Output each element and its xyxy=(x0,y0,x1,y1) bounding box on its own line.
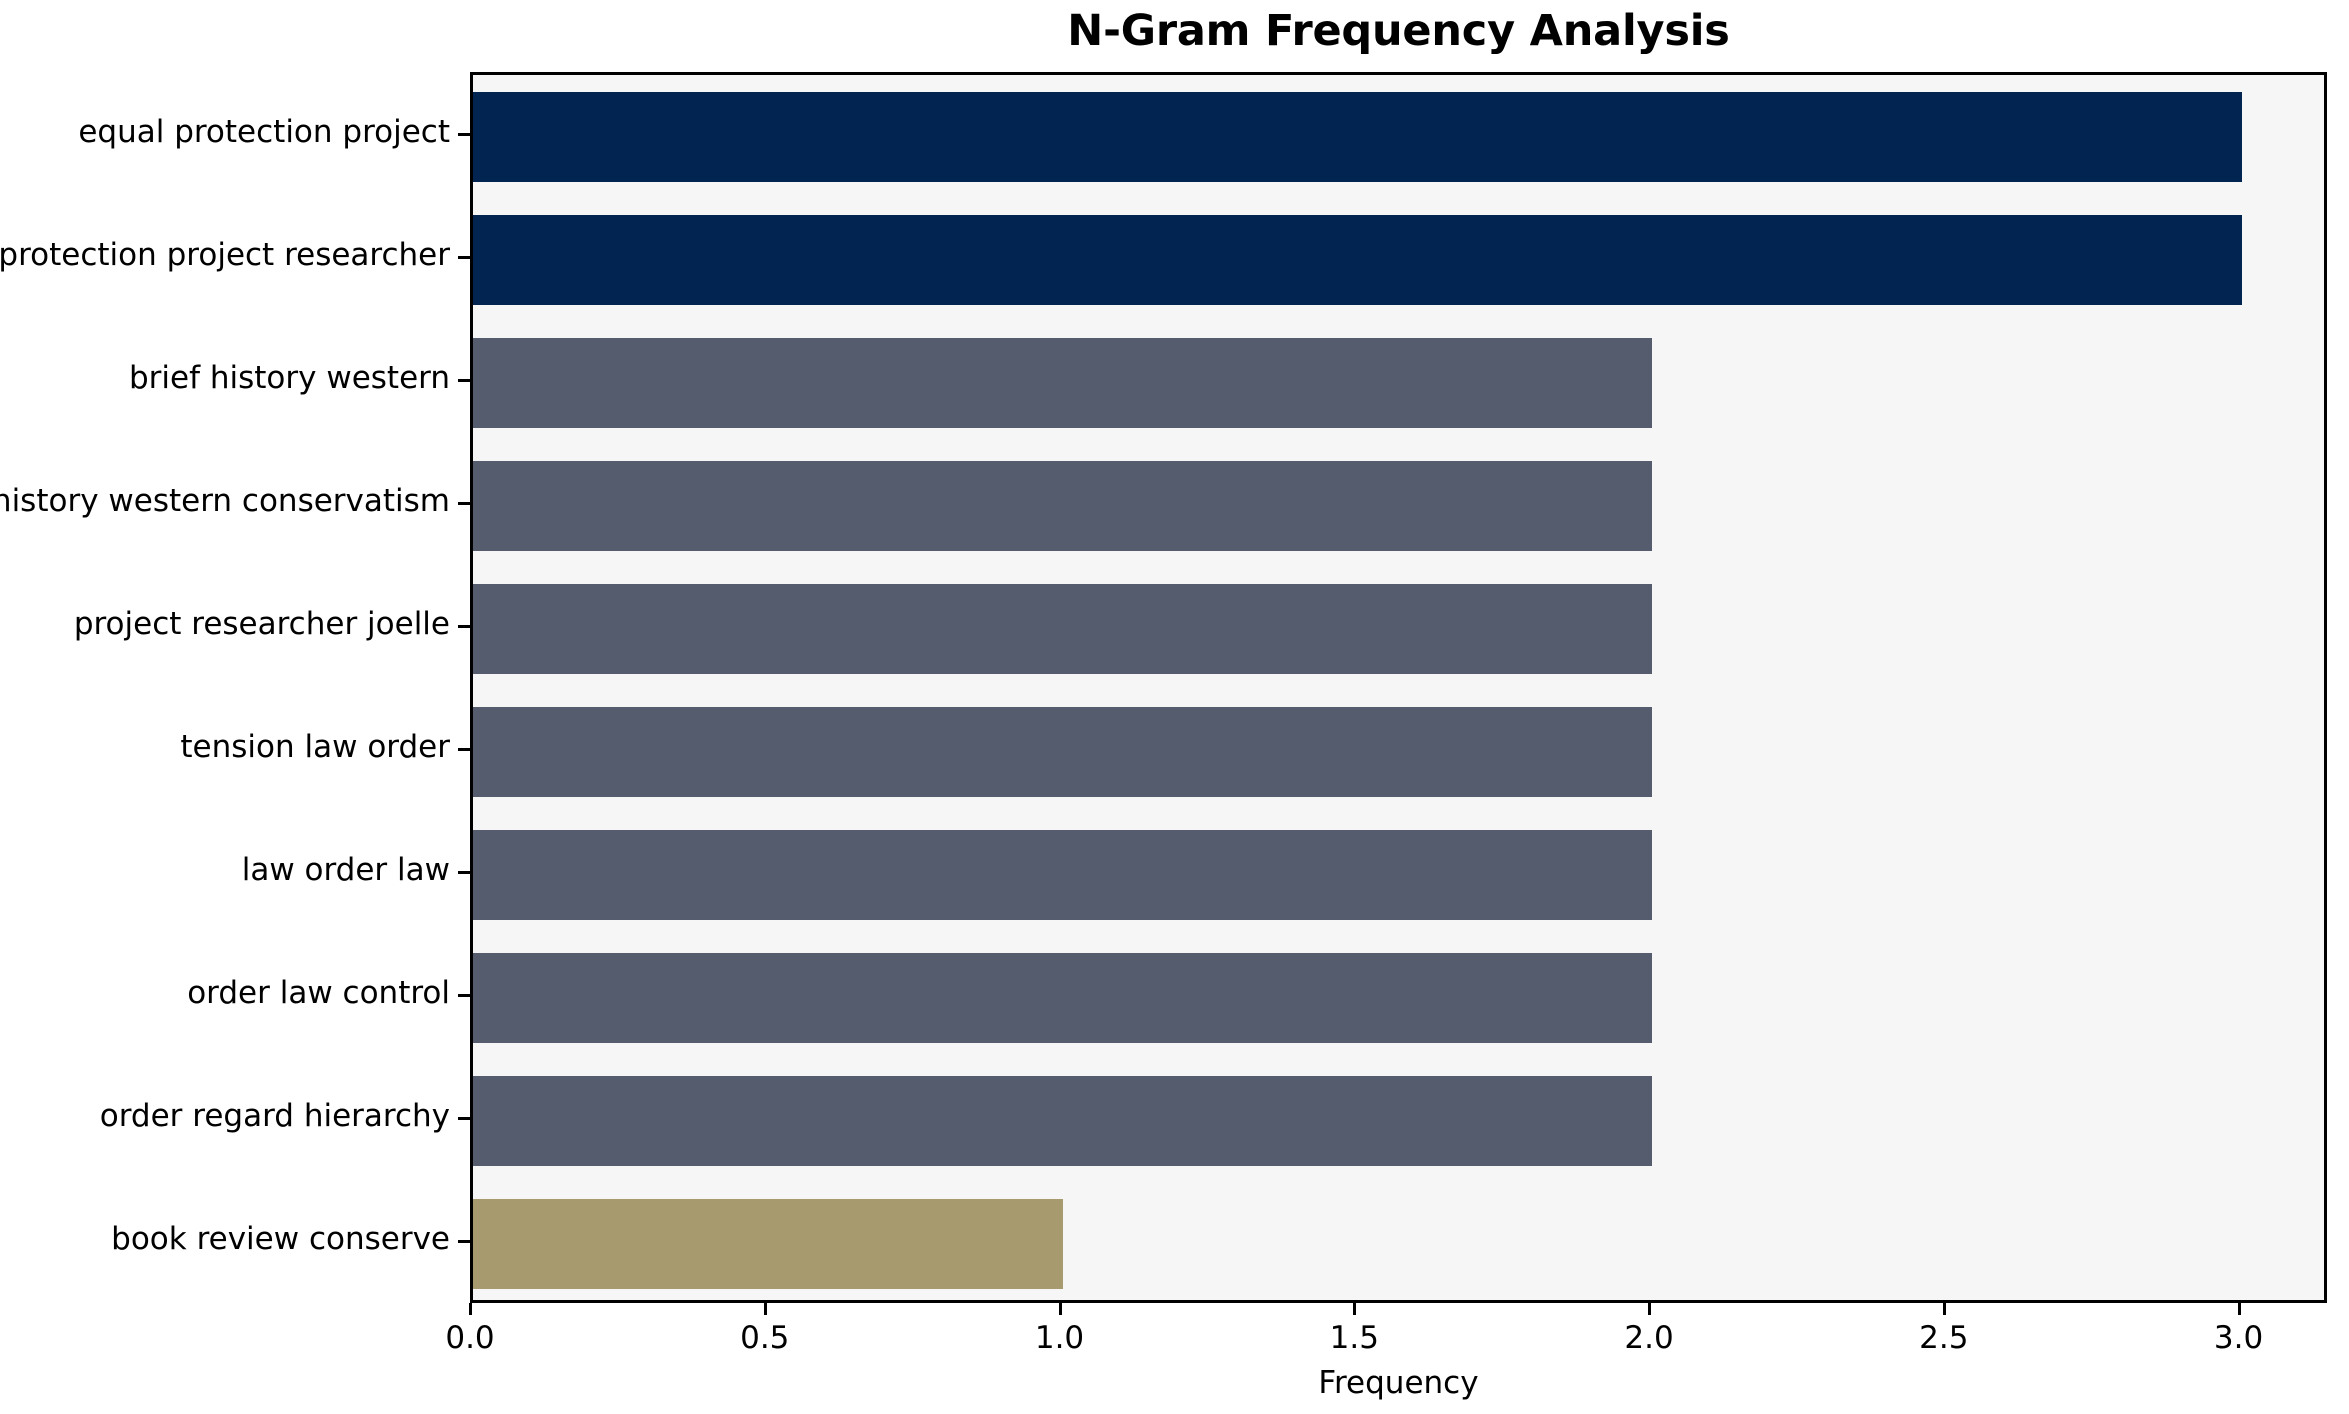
y-tick-mark xyxy=(458,1240,470,1243)
x-tick-label: 1.5 xyxy=(1294,1323,1414,1354)
bar xyxy=(473,584,1652,674)
y-tick-label: order law control xyxy=(0,978,450,1009)
x-tick-label: 3.0 xyxy=(2179,1323,2299,1354)
x-tick-mark xyxy=(469,1303,472,1315)
bar xyxy=(473,707,1652,797)
chart-title: N-Gram Frequency Analysis xyxy=(470,2,2327,60)
x-tick-label: 0.0 xyxy=(410,1323,530,1354)
bar xyxy=(473,830,1652,920)
y-tick-label: book review conserve xyxy=(0,1224,450,1255)
y-tick-mark xyxy=(458,256,470,259)
bars-container xyxy=(473,75,2324,1300)
bar xyxy=(473,461,1652,551)
y-tick-mark xyxy=(458,379,470,382)
x-tick-mark xyxy=(1648,1303,1651,1315)
x-tick-label: 2.5 xyxy=(1884,1323,2004,1354)
y-tick-mark xyxy=(458,133,470,136)
x-tick-mark xyxy=(1943,1303,1946,1315)
x-tick-label: 1.0 xyxy=(1000,1323,1120,1354)
x-tick-label: 0.5 xyxy=(705,1323,825,1354)
y-tick-label: tension law order xyxy=(0,732,450,763)
y-tick-mark xyxy=(458,1117,470,1120)
y-tick-label: law order law xyxy=(0,855,450,886)
y-tick-mark xyxy=(458,625,470,628)
y-tick-label: protection project researcher xyxy=(0,240,450,271)
bar xyxy=(473,215,2242,305)
y-tick-mark xyxy=(458,994,470,997)
bar xyxy=(473,1076,1652,1166)
y-tick-label: equal protection project xyxy=(0,117,450,148)
y-tick-label: order regard hierarchy xyxy=(0,1101,450,1132)
y-tick-mark xyxy=(458,871,470,874)
y-tick-mark xyxy=(458,748,470,751)
y-tick-label: project researcher joelle xyxy=(0,609,450,640)
bar xyxy=(473,953,1652,1043)
x-axis-label: Frequency xyxy=(470,1365,2327,1401)
x-tick-label: 2.0 xyxy=(1589,1323,1709,1354)
x-tick-mark xyxy=(2238,1303,2241,1315)
x-tick-mark xyxy=(1059,1303,1062,1315)
y-tick-mark xyxy=(458,502,470,505)
bar xyxy=(473,338,1652,428)
bar xyxy=(473,1199,1063,1289)
plot-area xyxy=(470,72,2327,1303)
bar xyxy=(473,92,2242,182)
x-tick-mark xyxy=(764,1303,767,1315)
x-tick-mark xyxy=(1353,1303,1356,1315)
y-tick-label: brief history western xyxy=(0,363,450,394)
chart-figure: N-Gram Frequency Analysis equal protecti… xyxy=(0,0,2349,1414)
y-tick-label: history western conservatism xyxy=(0,486,450,517)
